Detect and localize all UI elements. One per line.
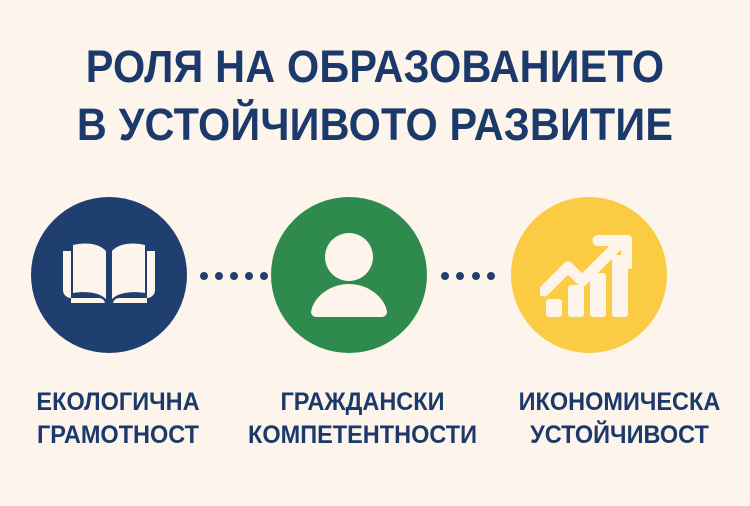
connector-dot — [215, 272, 223, 280]
node-eco-circle[interactable] — [31, 197, 187, 353]
labels-row: ЕКОЛОГИЧНА ГРАМОТНОСТ ГРАЖДАНСКИ КОМПЕТЕ… — [0, 386, 750, 466]
connector-dot — [487, 272, 495, 280]
label-eco: ЕКОЛОГИЧНА ГРАМОТНОСТ — [0, 386, 236, 452]
label-economic: ИКОНОМИЧЕСКА УСТОЙЧИВОСТ — [489, 386, 750, 452]
connector-dot — [260, 272, 268, 280]
open-book-icon — [59, 235, 159, 315]
node-civic-circle[interactable] — [271, 197, 427, 353]
infographic-poster: РОЛЯ НА ОБРАЗОВАНИЕТО В УСТОЙЧИВОТО РАЗВ… — [0, 0, 750, 506]
connector-eco-to-civic — [200, 271, 268, 280]
connector-dot — [200, 272, 208, 280]
connector-civic-to-economic — [441, 271, 495, 280]
label-economic-line-1: ИКОНОМИЧЕСКА — [497, 386, 742, 419]
label-civic-line-2: КОМПЕТЕНТНОСТИ — [244, 419, 482, 452]
connector-dot — [245, 272, 253, 280]
connector-dot — [230, 272, 238, 280]
page-title: РОЛЯ НА ОБРАЗОВАНИЕТО В УСТОЙЧИВОТО РАЗВ… — [0, 38, 750, 154]
connector-dot — [456, 272, 464, 280]
person-icon — [303, 232, 395, 318]
label-eco-line-1: ЕКОЛОГИЧНА — [7, 386, 229, 419]
label-eco-line-2: ГРАМОТНОСТ — [7, 419, 229, 452]
connector-dot — [472, 272, 480, 280]
connector-dot — [441, 272, 449, 280]
title-line-1: РОЛЯ НА ОБРАЗОВАНИЕТО — [30, 38, 720, 96]
growth-chart-icon — [540, 229, 638, 321]
title-line-2: В УСТОЙЧИВОТО РАЗВИТИЕ — [30, 96, 720, 154]
node-economic-circle[interactable] — [511, 197, 667, 353]
icon-row — [0, 197, 750, 357]
label-civic-line-1: ГРАЖДАНСКИ — [244, 386, 482, 419]
label-economic-line-2: УСТОЙЧИВОСТ — [497, 419, 742, 452]
label-civic: ГРАЖДАНСКИ КОМПЕТЕНТНОСТИ — [236, 386, 489, 452]
